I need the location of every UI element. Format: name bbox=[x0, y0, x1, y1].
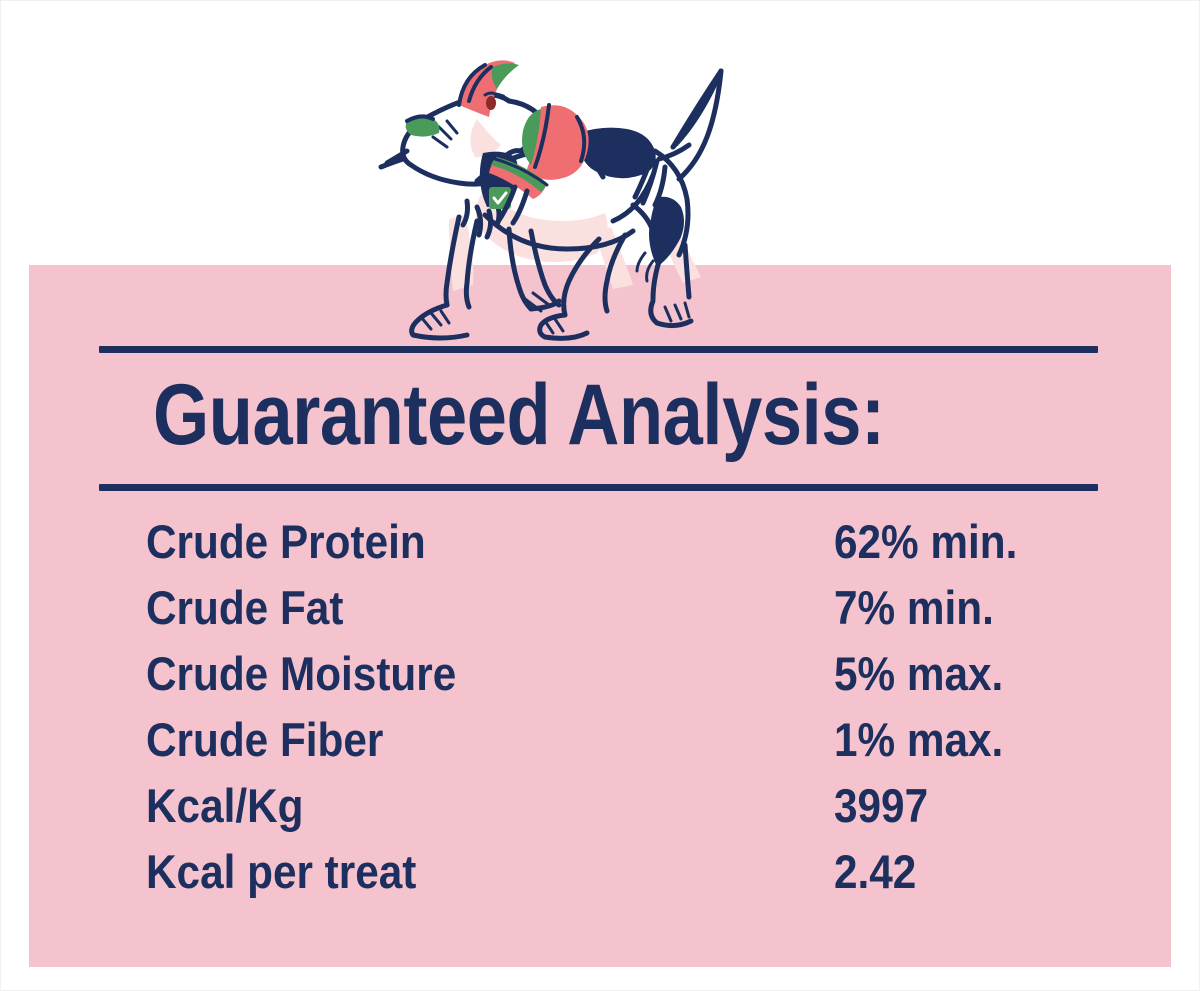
table-row: Kcal/Kg 3997 bbox=[146, 777, 1106, 843]
table-row: Crude Protein 62% min. bbox=[146, 513, 1106, 579]
nutrient-value: 2.42 bbox=[834, 843, 916, 901]
nutrient-value: 1% max. bbox=[834, 711, 1003, 769]
nutrient-label: Kcal per treat bbox=[146, 843, 416, 901]
nutrient-label: Crude Fiber bbox=[146, 711, 383, 769]
nutrient-value: 62% min. bbox=[834, 513, 1017, 571]
nutrient-label: Crude Protein bbox=[146, 513, 426, 571]
screenshot-canvas: Guaranteed Analysis: Crude Protein 62% m… bbox=[0, 0, 1200, 991]
page-title: Guaranteed Analysis: bbox=[153, 367, 885, 463]
table-row: Crude Moisture 5% max. bbox=[146, 645, 1106, 711]
table-row: Crude Fat 7% min. bbox=[146, 579, 1106, 645]
table-row: Kcal per treat 2.42 bbox=[146, 843, 1106, 909]
divider-bottom bbox=[99, 484, 1098, 491]
nutrient-label: Crude Moisture bbox=[146, 645, 456, 703]
divider-top bbox=[99, 346, 1098, 353]
nutrient-value: 5% max. bbox=[834, 645, 1003, 703]
nutrient-label: Kcal/Kg bbox=[146, 777, 304, 835]
table-row: Crude Fiber 1% max. bbox=[146, 711, 1106, 777]
nutrient-label: Crude Fat bbox=[146, 579, 343, 637]
guaranteed-analysis-table: Crude Protein 62% min. Crude Fat 7% min.… bbox=[146, 513, 1106, 909]
walking-dog-illustration bbox=[373, 39, 769, 329]
nutrient-value: 7% min. bbox=[834, 579, 994, 637]
nutrient-value: 3997 bbox=[834, 777, 928, 835]
